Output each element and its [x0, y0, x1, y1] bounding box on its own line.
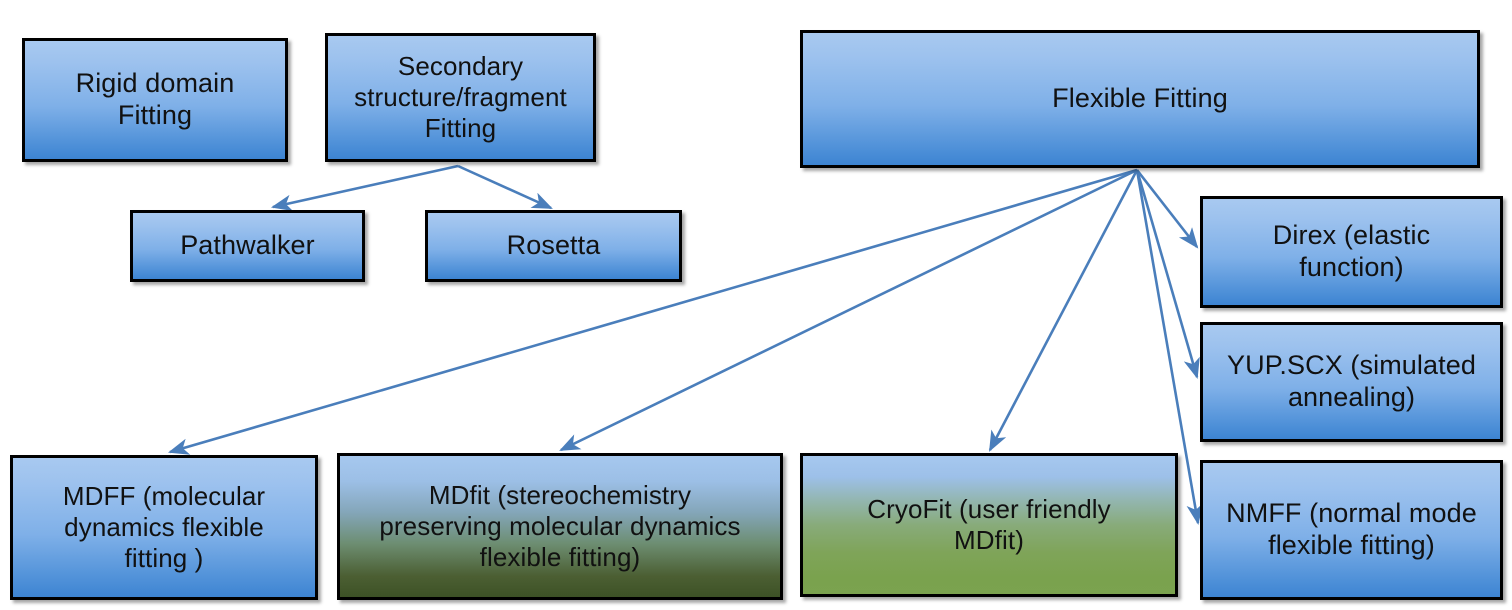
edge-secondary-to-pathwalker	[273, 166, 458, 207]
node-flexible-fitting[interactable]: Flexible Fitting	[800, 30, 1480, 168]
node-nmff[interactable]: NMFF (normal mode flexible fitting)	[1200, 460, 1503, 600]
node-rigid-domain-fitting[interactable]: Rigid domain Fitting	[22, 38, 288, 162]
diagram-canvas: Rigid domain Fitting Secondary structure…	[0, 0, 1512, 610]
node-secondary-structure-fragment-fitting[interactable]: Secondary structure/fragment Fitting	[325, 33, 596, 162]
node-mdfit[interactable]: MDfit (stereochemistry preserving molecu…	[337, 453, 783, 600]
node-yup-scx[interactable]: YUP.SCX (simulated annealing)	[1200, 322, 1503, 442]
edge-flexible-to-direx	[1137, 170, 1197, 247]
node-cryofit[interactable]: CryoFit (user friendly MDfit)	[800, 453, 1178, 597]
node-direx[interactable]: Direx (elastic function)	[1200, 196, 1503, 308]
node-rosetta[interactable]: Rosetta	[425, 210, 682, 282]
edge-secondary-to-rosetta	[458, 166, 551, 208]
node-pathwalker[interactable]: Pathwalker	[130, 210, 365, 282]
node-mdff[interactable]: MDFF (molecular dynamics flexible fittin…	[10, 455, 318, 600]
edge-flexible-to-cryofit	[990, 170, 1137, 450]
